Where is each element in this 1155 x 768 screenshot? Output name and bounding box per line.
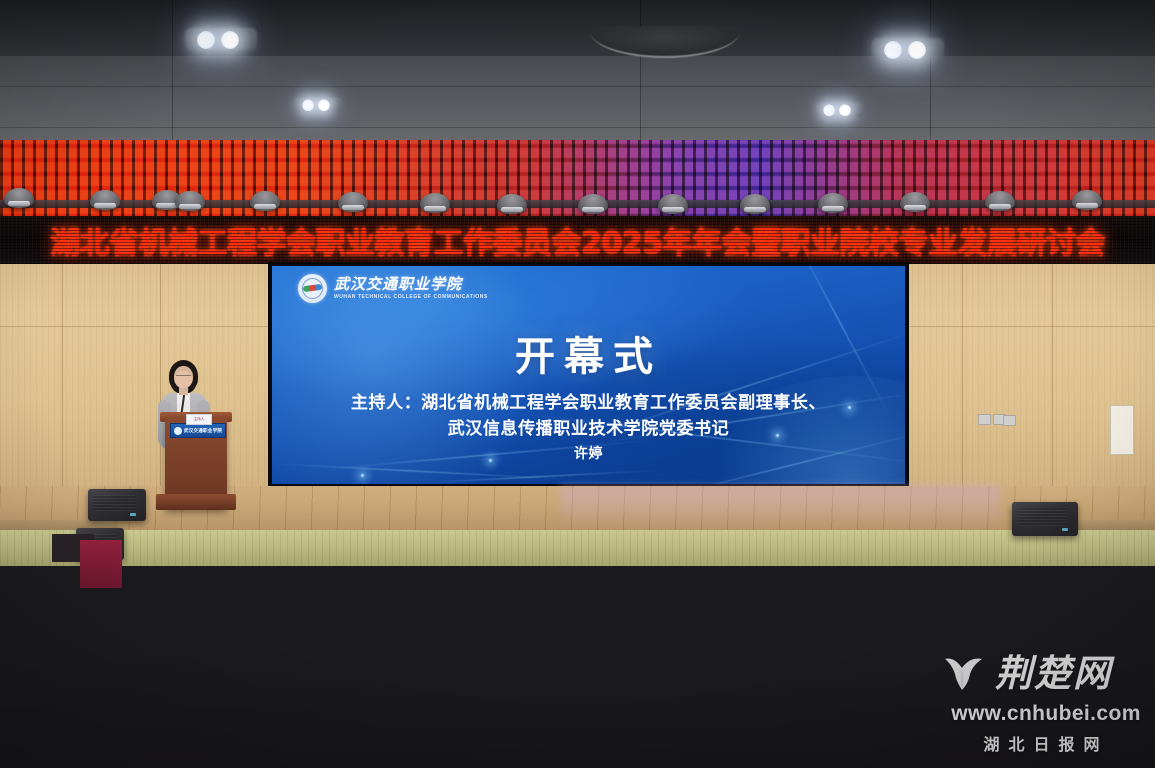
- college-logo: 武汉交通职业学院 WUHAN TECHNICAL COLLEGE OF COMM…: [298, 274, 488, 303]
- dome-light-icon: [578, 194, 608, 214]
- ceiling-seam-h: [0, 86, 1155, 87]
- bird-logo-icon: [942, 653, 988, 693]
- ceiling-seam: [930, 0, 931, 152]
- led-banner: 湖北省机械工程学会职业教育工作委员会2025年年会暨职业院校专业发展研讨会: [0, 216, 1155, 264]
- dome-light-icon: [900, 192, 930, 212]
- screen-subtitle-line2: 武汉信息传播职业技术学院党委书记: [296, 416, 881, 442]
- dome-light-icon: [658, 194, 688, 214]
- podium-nameplate: 武汉交通职业学院: [170, 423, 226, 438]
- college-logo-cn: 武汉交通职业学院: [334, 277, 488, 292]
- dome-light-icon: [1072, 190, 1102, 210]
- speaker-neck: [179, 387, 188, 395]
- ceiling-seam: [172, 0, 173, 152]
- dome-light-icon: [90, 190, 120, 210]
- projection-screen: 武汉交通职业学院 WUHAN TECHNICAL COLLEGE OF COMM…: [270, 264, 907, 486]
- college-logo-mark-icon: [298, 274, 327, 303]
- screen-subtitle: 主持人：湖北省机械工程学会职业教育工作委员会副理事长、 武汉信息传播职业技术学院…: [296, 390, 881, 466]
- glasses-icon: [176, 375, 191, 380]
- watermark-brand: 荆楚网: [995, 655, 1112, 692]
- ceiling-seam-h: [0, 127, 1155, 128]
- dome-light-icon: [338, 192, 368, 212]
- podium-name-card: 主持人: [186, 414, 212, 425]
- auditorium-photo: 湖北省机械工程学会职业教育工作委员会2025年年会暨职业院校专业发展研讨会: [0, 0, 1155, 768]
- dome-light-icon: [497, 194, 527, 214]
- power-outlet: [978, 414, 991, 425]
- ceiling-spotlight: [815, 102, 863, 119]
- dome-light-icon: [740, 194, 770, 214]
- watermark-url: www.cnhubei.com: [942, 702, 1150, 726]
- wall-seam: [62, 264, 63, 496]
- power-outlet: [1003, 415, 1016, 426]
- screen-node: [360, 473, 365, 478]
- screen-surface: 武汉交通职业学院 WUHAN TECHNICAL COLLEGE OF COMM…: [272, 266, 905, 484]
- watermark: 荆楚网 www.cnhubei.com 湖北日报网: [942, 648, 1150, 754]
- ceiling-dark-band: [0, 0, 1155, 56]
- ceiling-spotlight: [185, 28, 257, 54]
- dome-light-icon: [985, 191, 1015, 211]
- wall-notice-frame: [1110, 405, 1134, 455]
- ceiling-seam: [640, 0, 641, 152]
- dome-light-icon: [250, 191, 280, 211]
- podium-name-card-text: 主持人: [187, 415, 211, 424]
- ceiling-spotlight: [294, 97, 342, 114]
- screen-subtitle-line1: 主持人：湖北省机械工程学会职业教育工作委员会副理事长、: [296, 390, 881, 416]
- screen-title: 开幕式: [272, 324, 905, 382]
- dome-light-icon: [818, 193, 848, 213]
- podium-plate-logo-icon: [174, 427, 182, 435]
- dome-light-icon: [420, 193, 450, 213]
- ceiling: [0, 0, 1155, 152]
- screen-subtitle-line3: 许婷: [296, 443, 881, 467]
- led-banner-text: 湖北省机械工程学会职业教育工作委员会2025年年会暨职业院校专业发展研讨会: [0, 216, 1155, 264]
- watermark-subtitle: 湖北日报网: [942, 731, 1150, 755]
- dome-light-icon: [4, 188, 34, 208]
- dome-light-icon: [175, 191, 205, 211]
- wall-seam: [962, 264, 963, 496]
- college-logo-en: WUHAN TECHNICAL COLLEGE OF COMMUNICATION…: [334, 295, 488, 300]
- ceiling-spotlight: [872, 38, 944, 64]
- podium-plate-text: 武汉交通职业学院: [184, 428, 222, 434]
- wall-seam: [1052, 264, 1053, 496]
